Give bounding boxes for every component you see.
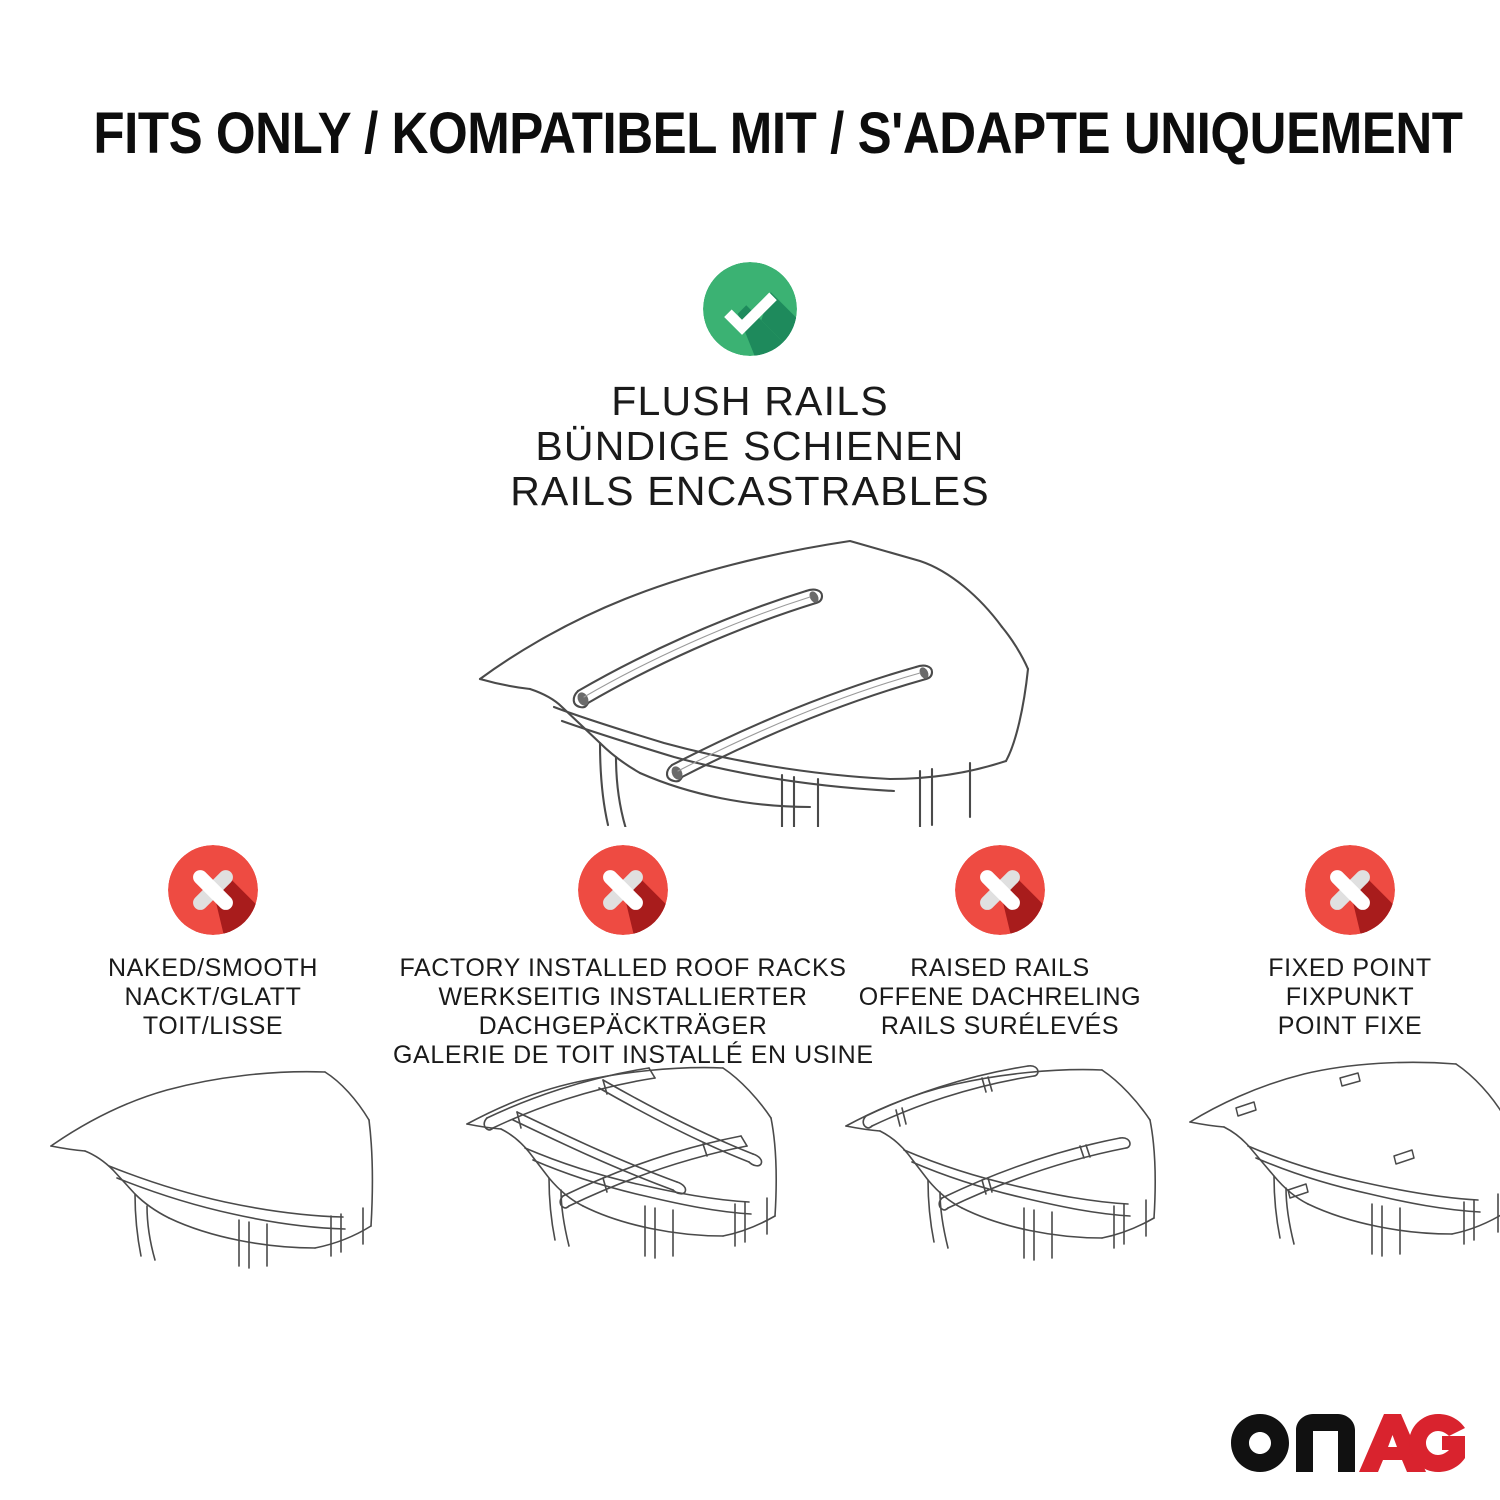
incompatible-label-de: NACKT/GLATT bbox=[63, 983, 363, 1012]
incompatible-label-de: OFFENE DACHRELING bbox=[835, 983, 1165, 1012]
incompatible-label-en: RAISED RAILS bbox=[835, 954, 1165, 983]
compatible-section: FLUSH RAILS BÜNDIGE SCHIENEN RAILS ENCAS… bbox=[0, 262, 1500, 514]
incompatible-label-fr: POINT FIXE bbox=[1195, 1012, 1500, 1041]
incompatible-item-factory-roof-racks: FACTORY INSTALLED ROOF RACKS WERKSEITIG … bbox=[393, 845, 853, 1070]
incompatible-item-raised-rails: RAISED RAILS OFFENE DACHRELING RAILS SUR… bbox=[835, 845, 1165, 1041]
car-roof-factory-racks-illustration bbox=[453, 1060, 793, 1280]
incompatible-item-fixed-point: FIXED POINT FIXPUNKT POINT FIXE bbox=[1195, 845, 1500, 1041]
omac-logo bbox=[1228, 1410, 1468, 1476]
page-title-text: FITS ONLY / KOMPATIBEL MIT / S'ADAPTE UN… bbox=[93, 104, 1462, 164]
cross-circle-icon bbox=[578, 845, 668, 935]
incompatible-label-fr: RAILS SURÉLEVÉS bbox=[835, 1012, 1165, 1041]
car-roof-naked-illustration bbox=[43, 1060, 383, 1280]
check-circle-icon bbox=[703, 262, 797, 356]
cross-circle-icon bbox=[168, 845, 258, 935]
incompatible-label-en: FACTORY INSTALLED ROOF RACKS bbox=[393, 954, 853, 983]
cross-circle-icon bbox=[955, 845, 1045, 935]
incompatible-label-de-1: WERKSEITIG INSTALLIERTER bbox=[393, 983, 853, 1012]
incompatible-label-de: FIXPUNKT bbox=[1195, 983, 1500, 1012]
incompatible-label-de-2: DACHGEPÄCKTRÄGER bbox=[393, 1012, 853, 1041]
compatible-labels: FLUSH RAILS BÜNDIGE SCHIENEN RAILS ENCAS… bbox=[0, 379, 1500, 514]
incompatible-labels: FIXED POINT FIXPUNKT POINT FIXE bbox=[1195, 954, 1500, 1041]
incompatible-labels: FACTORY INSTALLED ROOF RACKS WERKSEITIG … bbox=[393, 954, 853, 1070]
car-roof-fixed-point-illustration bbox=[1180, 1060, 1500, 1280]
car-roof-flush-rails-illustration bbox=[450, 507, 1050, 827]
page-title: FITS ONLY / KOMPATIBEL MIT / S'ADAPTE UN… bbox=[0, 104, 1500, 164]
compatible-label-en: FLUSH RAILS bbox=[0, 379, 1500, 424]
incompatible-item-naked-smooth: NAKED/SMOOTH NACKT/GLATT TOIT/LISSE bbox=[63, 845, 363, 1041]
incompatible-label-fr: TOIT/LISSE bbox=[63, 1012, 363, 1041]
incompatible-section: NAKED/SMOOTH NACKT/GLATT TOIT/LISSE bbox=[0, 845, 1500, 1315]
compatible-label-de: BÜNDIGE SCHIENEN bbox=[0, 424, 1500, 469]
cross-circle-icon bbox=[1305, 845, 1395, 935]
incompatible-label-en: FIXED POINT bbox=[1195, 954, 1500, 983]
car-roof-raised-rails-illustration bbox=[830, 1060, 1170, 1280]
incompatible-labels: RAISED RAILS OFFENE DACHRELING RAILS SUR… bbox=[835, 954, 1165, 1041]
incompatible-labels: NAKED/SMOOTH NACKT/GLATT TOIT/LISSE bbox=[63, 954, 363, 1041]
incompatible-label-en: NAKED/SMOOTH bbox=[63, 954, 363, 983]
